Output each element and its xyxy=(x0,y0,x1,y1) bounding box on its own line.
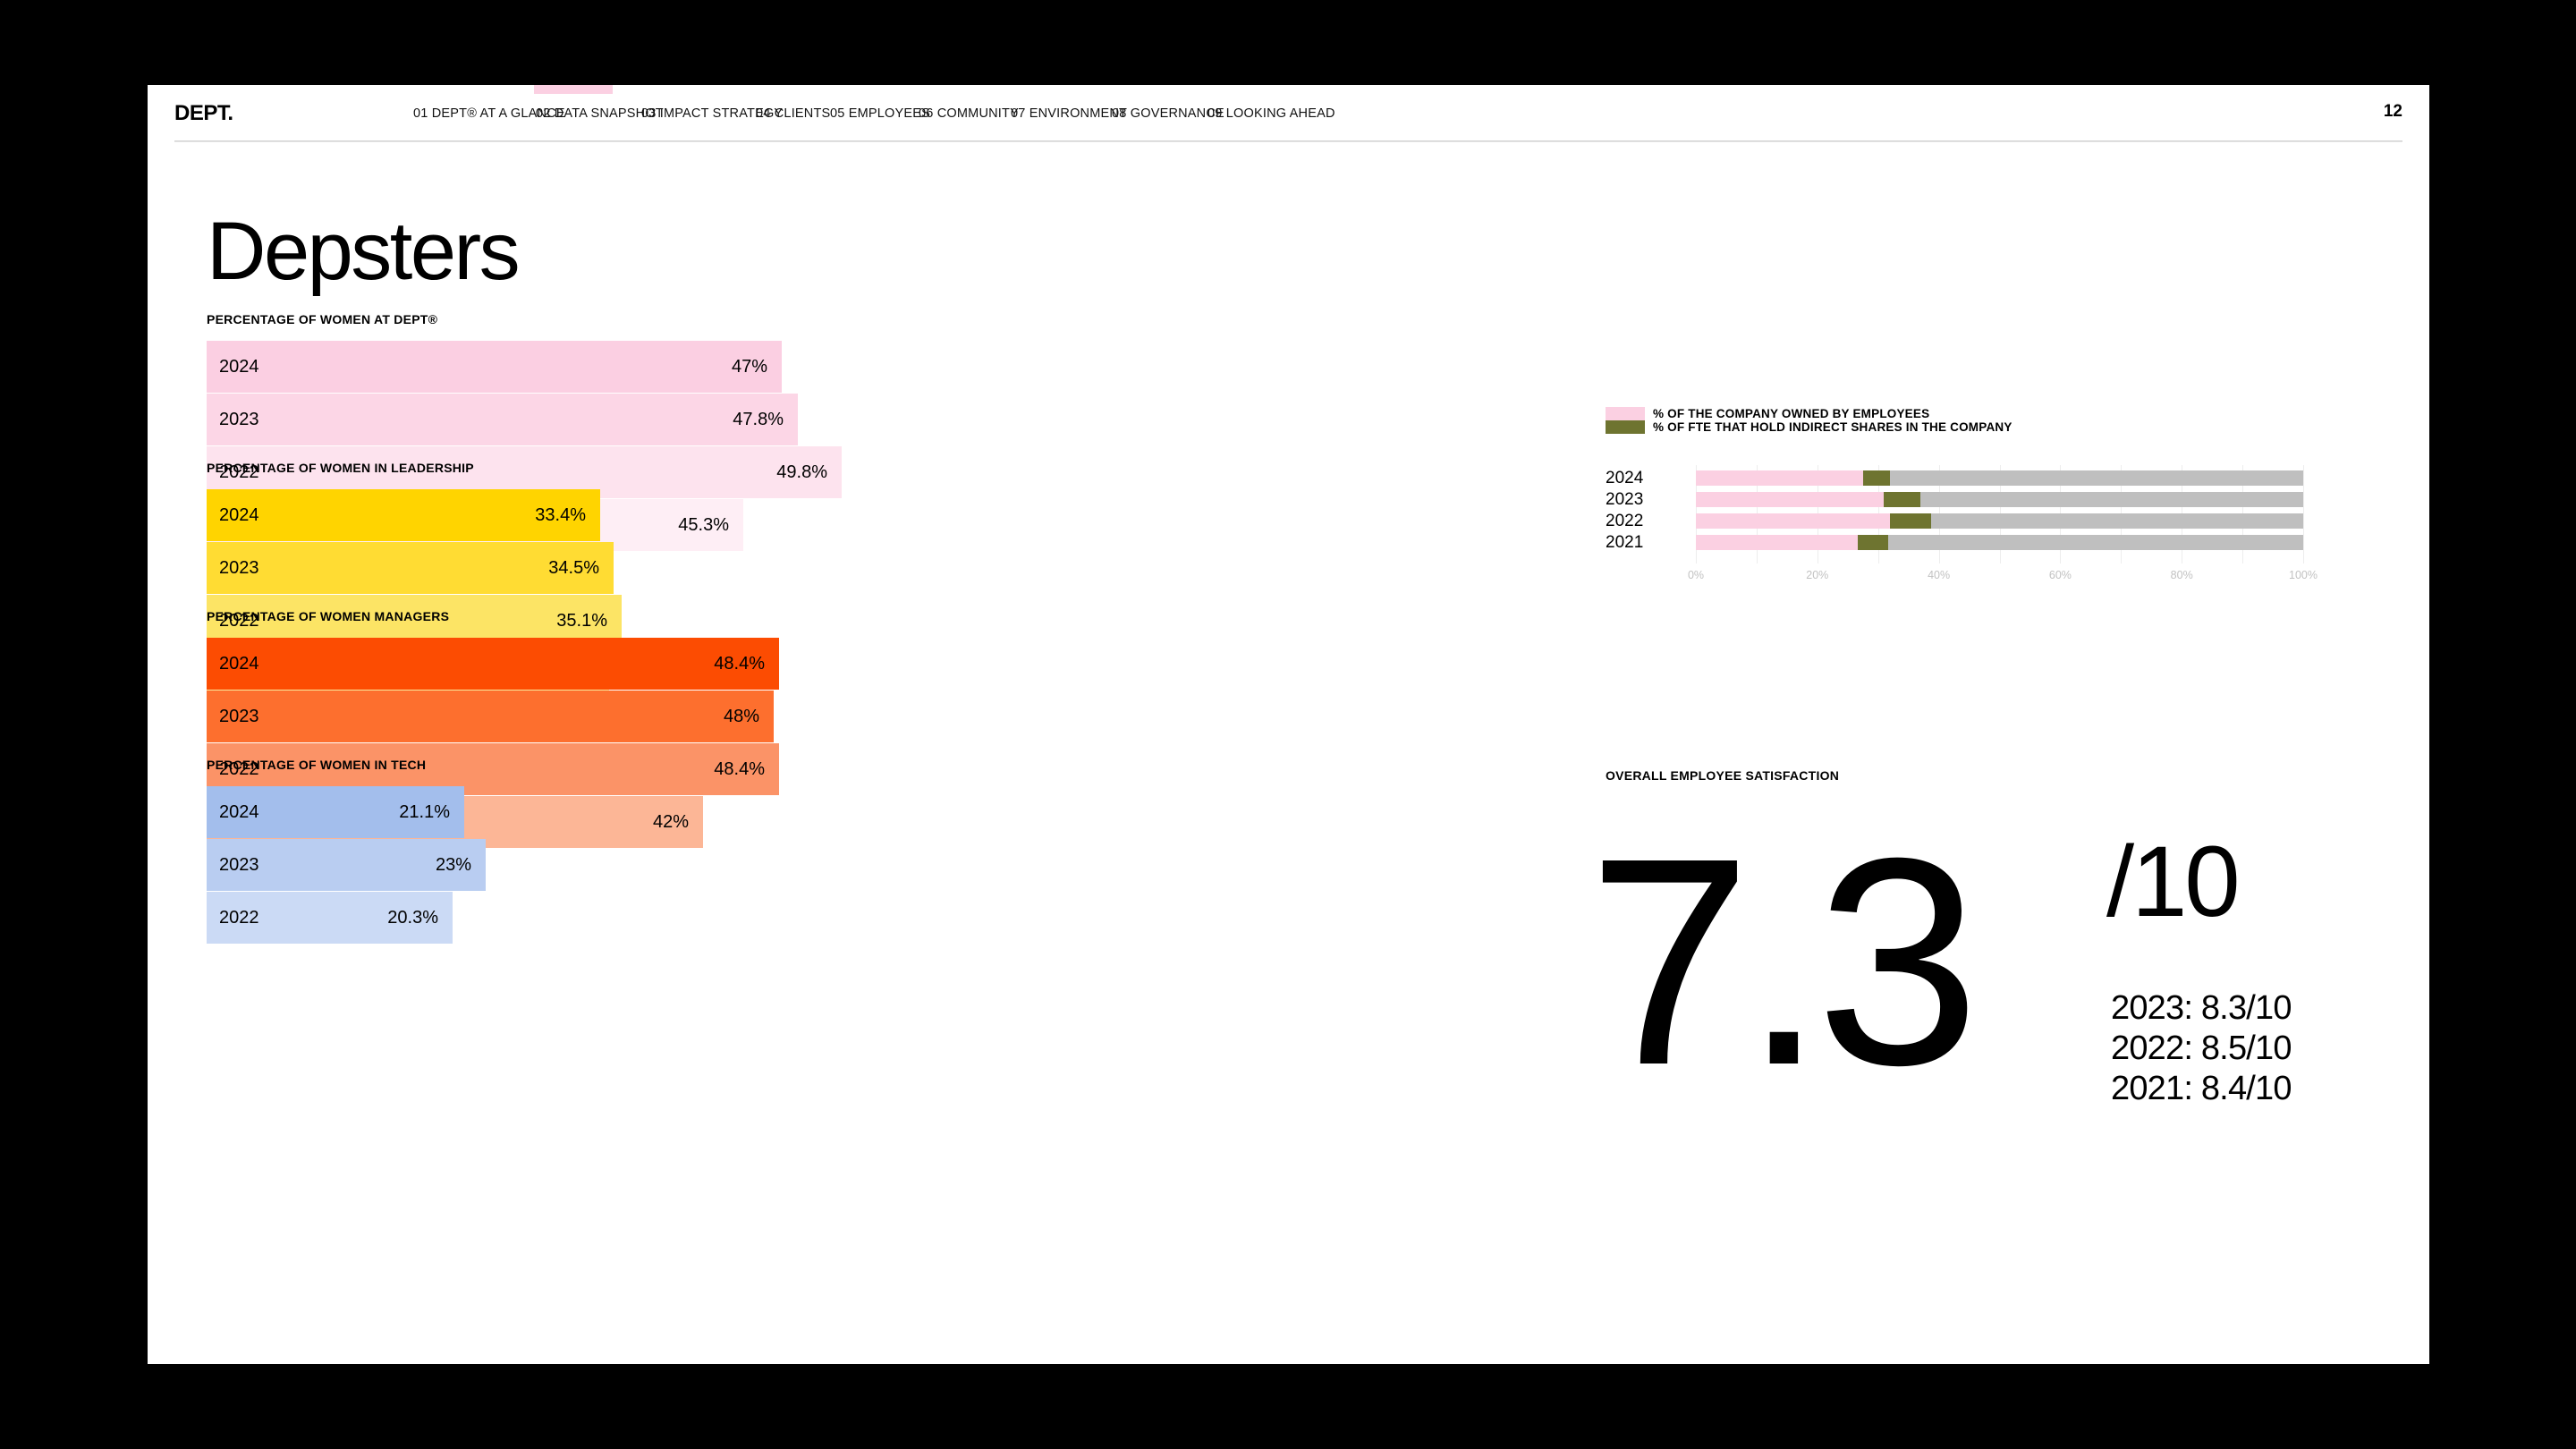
chart-title: PERCENTAGE OF WOMEN AT DEPT® xyxy=(207,313,437,326)
ownership-bar-segment xyxy=(1888,535,2303,550)
bar-value-label: 47% xyxy=(710,358,767,376)
bar-list: 202421.1%202323%202220.3% xyxy=(207,786,426,944)
nav-item-4[interactable]: 04 CLIENTS xyxy=(756,107,830,121)
report-page: DEPT. 01 DEPT® AT A GLANCE02 DATA SNAPSH… xyxy=(148,85,2429,1364)
page-number: 12 xyxy=(2384,103,2402,120)
ownership-bar-segment xyxy=(1890,513,1931,529)
bar-row: 202348% xyxy=(207,691,449,742)
nav-item-7[interactable]: 07 ENVIRONMENT xyxy=(1011,107,1127,121)
bar-row: 202323% xyxy=(207,839,426,891)
chart-women-in-tech: PERCENTAGE OF WOMEN IN TECH 202421.1%202… xyxy=(207,758,426,945)
bar-year-label: 2024 xyxy=(219,358,259,376)
ownership-bar-segment xyxy=(1696,492,1884,507)
bar-value-label: 45.3% xyxy=(672,516,729,534)
chart-title: PERCENTAGE OF WOMEN IN LEADERSHIP xyxy=(207,462,474,474)
chart-employee-ownership: % OF THE COMPANY OWNED BY EMPLOYEES% OF … xyxy=(1606,407,2366,434)
bar-value-label: 33.4% xyxy=(529,506,586,524)
legend-item: % OF FTE THAT HOLD INDIRECT SHARES IN TH… xyxy=(1606,420,2366,434)
bar-value-label: 48.4% xyxy=(708,760,765,778)
chart-title: PERCENTAGE OF WOMEN MANAGERS xyxy=(207,610,449,623)
legend-label: % OF THE COMPANY OWNED BY EMPLOYEES xyxy=(1653,407,1929,420)
bar-value-label: 48.4% xyxy=(708,655,765,673)
bar-value-label: 42% xyxy=(631,813,689,831)
satisfaction-history-row: 2023: 8.3/10 xyxy=(2111,988,2292,1029)
bar-fill xyxy=(207,691,774,742)
bar-year-label: 2024 xyxy=(219,655,259,673)
x-axis-tick-label: 60% xyxy=(2049,570,2072,581)
ownership-year-label: 2024 xyxy=(1606,470,1661,487)
ownership-bar-segment xyxy=(1863,470,1891,486)
bar-fill xyxy=(207,341,782,393)
ownership-bar xyxy=(1696,513,2303,529)
bar-year-label: 2023 xyxy=(219,411,259,428)
legend-swatch xyxy=(1606,420,1645,434)
chart-plot-area: 2024202320222021 xyxy=(1606,465,2366,559)
employee-satisfaction-block: OVERALL EMPLOYEE SATISFACTION 7.3 /10 20… xyxy=(1606,769,2384,782)
ownership-bar-segment xyxy=(1920,492,2303,507)
satisfaction-title: OVERALL EMPLOYEE SATISFACTION xyxy=(1606,769,2384,782)
bar-year-label: 2022 xyxy=(219,909,259,927)
ownership-bar-segment xyxy=(1884,492,1920,507)
x-axis-tick-label: 40% xyxy=(1928,570,1950,581)
bar-value-label: 35.1% xyxy=(550,612,607,630)
gridline xyxy=(2303,465,2304,563)
bar-value-label: 23% xyxy=(414,856,471,874)
ownership-bar-segment xyxy=(1696,535,1858,550)
nav-active-indicator xyxy=(534,85,613,94)
bar-year-label: 2023 xyxy=(219,708,259,725)
satisfaction-score: 7.3 xyxy=(1588,814,1971,1109)
ownership-bar-segment xyxy=(1696,513,1890,529)
legend-item: % OF THE COMPANY OWNED BY EMPLOYEES xyxy=(1606,407,2366,420)
bar-fill xyxy=(207,638,779,690)
bar-value-label: 47.8% xyxy=(726,411,784,428)
nav-divider xyxy=(174,140,2402,142)
logo-text: DEPT xyxy=(174,101,227,125)
bar-row: 202447% xyxy=(207,341,437,393)
logo-dot: . xyxy=(227,101,233,125)
bar-fill xyxy=(207,394,798,445)
ownership-year-label: 2021 xyxy=(1606,534,1661,551)
chart-legend: % OF THE COMPANY OWNED BY EMPLOYEES% OF … xyxy=(1606,407,2366,434)
legend-label: % OF FTE THAT HOLD INDIRECT SHARES IN TH… xyxy=(1653,420,2012,434)
page-title: Depsters xyxy=(207,210,518,292)
bar-value-label: 49.8% xyxy=(770,463,827,481)
bar-value-label: 21.1% xyxy=(393,803,450,821)
bar-row: 202347.8% xyxy=(207,394,437,445)
bar-row: 202334.5% xyxy=(207,542,474,594)
bar-year-label: 2023 xyxy=(219,856,259,874)
bar-value-label: 34.5% xyxy=(542,559,599,577)
satisfaction-denominator: /10 xyxy=(2106,832,2238,932)
x-axis-tick-label: 100% xyxy=(2289,570,2318,581)
bar-row: 202421.1% xyxy=(207,786,426,838)
nav-item-9[interactable]: 09 LOOKING AHEAD xyxy=(1207,107,1335,121)
satisfaction-history-row: 2022: 8.5/10 xyxy=(2111,1029,2292,1069)
bar-row: 202220.3% xyxy=(207,892,426,944)
x-axis-tick-label: 0% xyxy=(1688,570,1704,581)
x-axis-tick-label: 80% xyxy=(2171,570,2193,581)
bar-year-label: 2023 xyxy=(219,559,259,577)
bar-row: 202433.4% xyxy=(207,489,474,541)
nav-item-5[interactable]: 05 EMPLOYEES xyxy=(830,107,930,121)
chart-x-axis: 0%20%40%60%80%100% xyxy=(1606,570,2366,588)
ownership-bar-segment xyxy=(1696,470,1863,486)
x-axis-tick-label: 20% xyxy=(1806,570,1828,581)
chart-title: PERCENTAGE OF WOMEN IN TECH xyxy=(207,758,426,771)
ownership-year-label: 2022 xyxy=(1606,513,1661,530)
ownership-bar-segment xyxy=(1931,513,2303,529)
ownership-bar-segment xyxy=(1890,470,2303,486)
satisfaction-history: 2023: 8.3/102022: 8.5/102021: 8.4/10 xyxy=(2111,988,2292,1108)
nav-item-6[interactable]: 06 COMMUNITY xyxy=(919,107,1019,121)
top-navigation: DEPT. 01 DEPT® AT A GLANCE02 DATA SNAPSH… xyxy=(148,85,2429,141)
ownership-bar xyxy=(1696,535,2303,550)
bar-value-label: 48% xyxy=(702,708,759,725)
ownership-bar xyxy=(1696,470,2303,486)
bar-year-label: 2024 xyxy=(219,803,259,821)
legend-swatch xyxy=(1606,407,1645,420)
dept-logo[interactable]: DEPT. xyxy=(174,103,233,124)
bar-row: 202448.4% xyxy=(207,638,449,690)
satisfaction-history-row: 2021: 8.4/10 xyxy=(2111,1069,2292,1109)
ownership-bar xyxy=(1696,492,2303,507)
bar-value-label: 20.3% xyxy=(381,909,438,927)
ownership-bar-segment xyxy=(1858,535,1888,550)
ownership-year-label: 2023 xyxy=(1606,491,1661,508)
bar-year-label: 2024 xyxy=(219,506,259,524)
